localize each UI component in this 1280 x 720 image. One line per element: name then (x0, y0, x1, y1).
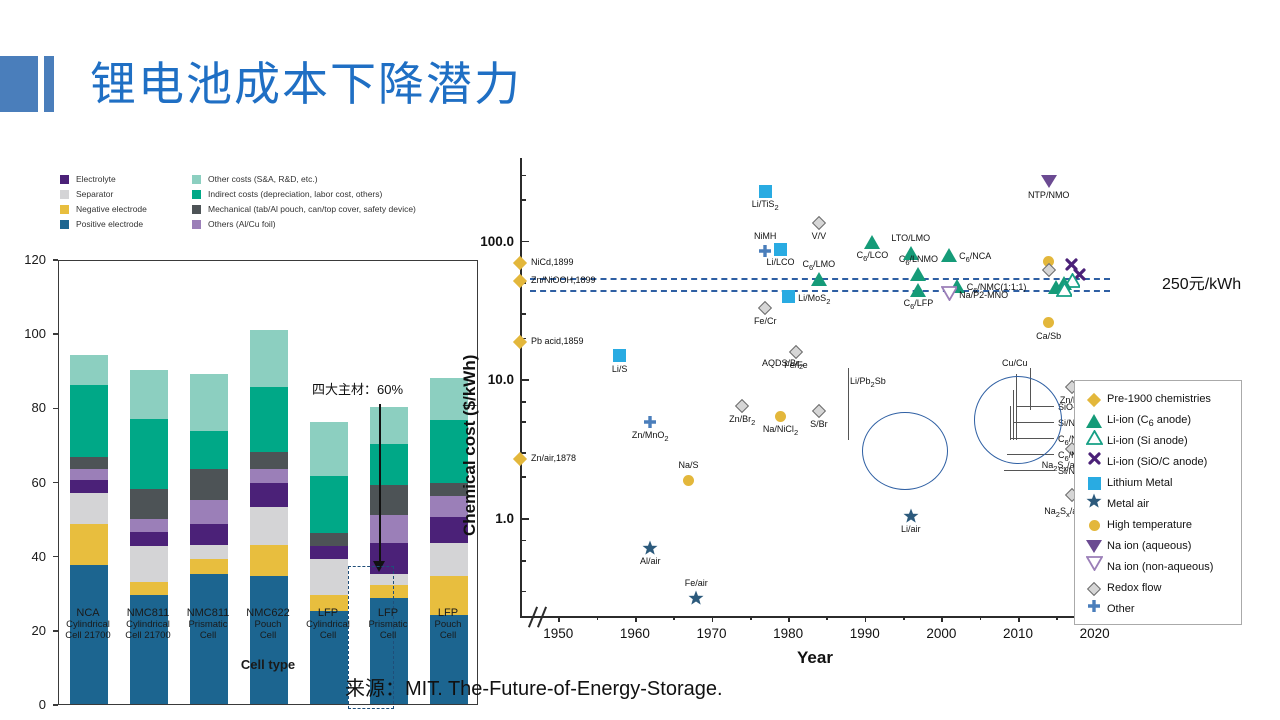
cluster-ellipse-nmc (974, 376, 1062, 464)
marker-diamond-open-redox-flow (734, 398, 750, 414)
source-citation: 来源：MIT. The-Future-of-Energy-Storage. (345, 672, 723, 701)
scatter-y-tick-minor (520, 199, 526, 201)
marker-triangle-down-open-na-nonaqueous (941, 286, 957, 302)
marker-star-metal-air (688, 590, 704, 606)
scatter-x-tick-minor (826, 616, 828, 620)
scatter-legend-marker (1085, 557, 1103, 578)
legend-swatch-electrolyte (60, 175, 69, 184)
scatter-legend-marker (1085, 431, 1103, 452)
marker-circle-high-temperature (1041, 315, 1057, 331)
bar-column (250, 330, 288, 705)
scatter-point-label-leader: Cu/Cu (1002, 358, 1028, 368)
scatter-point-label: Pb acid,1859 (531, 336, 584, 346)
bar-segment (130, 419, 168, 489)
scatter-legend-item: High temperature (1083, 515, 1235, 536)
marker-plus-other (1087, 599, 1101, 621)
legend-swatch-positive-electrode (60, 220, 69, 229)
scatter-x-tick-minor (980, 616, 982, 620)
marker-diamond-open-redox-flow (811, 403, 827, 419)
bar-annotation-label: 四大主材：60% (312, 379, 403, 398)
bar-y-tick-label: 60 (12, 475, 46, 490)
scatter-x-axis-title: Year (520, 648, 1110, 668)
slide-header: 锂电池成本下降潜力 (0, 56, 1280, 112)
scatter-legend-item: Na ion (non-aqueous) (1083, 557, 1235, 578)
bar-segment (130, 489, 168, 519)
scatter-legend-label: Li-ion (C6 anode) (1107, 414, 1191, 426)
bar-segment (250, 507, 288, 544)
bar-y-tick-label: 120 (12, 252, 46, 267)
bar-legend-column-right: Other costs (S&A, R&D, etc.) Indirect co… (192, 172, 416, 232)
scatter-chart-panel: Chemical cost ($/kWh) 1.010.0100.0 19501… (462, 150, 1122, 680)
marker-plus-other (757, 243, 773, 259)
bar-segment (250, 483, 288, 507)
scatter-legend-label: Lithium Metal (1107, 477, 1172, 489)
scatter-legend-label: Na ion (non-aqueous) (1107, 561, 1213, 573)
legend-label: Others (Al/Cu foil) (208, 219, 276, 229)
legend-label: Indirect costs (depreciation, labor cost… (208, 189, 382, 199)
scatter-legend-label: High temperature (1107, 519, 1192, 531)
cost-target-note: 250元/kWh (1162, 270, 1241, 294)
legend-item: Separator (60, 187, 147, 202)
scatter-y-tick-minor (520, 476, 526, 478)
marker-triangle-down-na-aqueous (1086, 540, 1102, 553)
scatter-y-tick-minor (520, 175, 526, 177)
scatter-point-label: Li/S (565, 364, 675, 374)
bar-y-tick-label: 40 (12, 549, 46, 564)
marker-square-lithium-metal (1088, 477, 1101, 490)
scatter-y-tick-label: 10.0 (466, 372, 514, 387)
scatter-legend-item: Metal air (1083, 494, 1235, 515)
scatter-point-label: Al/air (595, 556, 705, 566)
scatter-x-tick-label: 1970 (689, 626, 735, 641)
bar-y-tick-label: 100 (12, 326, 46, 341)
scatter-y-tick-minor (520, 591, 526, 593)
scatter-legend-label: Li-ion (SiO/C anode) (1107, 456, 1207, 468)
legend-label: Negative electrode (76, 204, 147, 214)
leader-line (848, 368, 849, 440)
bar-segment (130, 546, 168, 581)
page-title: 锂电池成本下降潜力 (90, 48, 522, 120)
scatter-x-tick-minor (750, 616, 752, 620)
marker-circle-high-temperature (1089, 520, 1100, 531)
scatter-legend-marker (1085, 578, 1103, 599)
bar-segment (190, 559, 228, 574)
marker-triangle-open-liion-si (1056, 282, 1072, 298)
marker-square-lithium-metal (773, 241, 789, 257)
scatter-x-tick-label: 1960 (612, 626, 658, 641)
bar-segment (190, 524, 228, 544)
legend-swatch-others-foil (192, 220, 201, 229)
legend-item: Other costs (S&A, R&D, etc.) (192, 172, 416, 187)
scatter-legend-marker (1085, 515, 1103, 536)
scatter-legend-marker (1085, 473, 1103, 494)
scatter-y-tick-minor (520, 401, 526, 403)
scatter-x-tick-label: 2010 (995, 626, 1041, 641)
bar-segment (130, 370, 168, 418)
legend-item: Indirect costs (depreciation, labor cost… (192, 187, 416, 202)
scatter-x-tick-label: 2000 (918, 626, 964, 641)
bar-segment (250, 545, 288, 577)
scatter-legend-label: Other (1107, 603, 1135, 615)
marker-diamond-pre1900 (512, 255, 528, 271)
scatter-chart-legend: Pre-1900 chemistriesLi-ion (C6 anode)Li-… (1074, 380, 1242, 625)
scatter-point-label: Fe/air (641, 578, 751, 588)
bar-y-tick-label: 0 (12, 697, 46, 712)
scatter-legend-marker (1085, 389, 1103, 410)
scatter-legend-label: Na ion (aqueous) (1107, 540, 1191, 552)
scatter-x-tick-minor (903, 616, 905, 620)
title-accent-bar (44, 56, 54, 112)
scatter-point-label: Zn/MnO2 (595, 430, 705, 443)
bar-segment (70, 524, 108, 565)
marker-diamond-open-redox-flow (1089, 584, 1099, 594)
marker-triangle-liion-c6 (910, 282, 926, 298)
scatter-point-label: Fe/Cr (710, 316, 820, 326)
scatter-point-label-leader: AQDS/Br2 (762, 358, 803, 371)
bar-segment (310, 559, 348, 594)
scatter-legend-item: Na ion (aqueous) (1083, 536, 1235, 557)
scatter-legend-marker (1085, 452, 1103, 473)
scatter-y-tick-minor (520, 313, 526, 315)
scatter-y-tick-major (520, 241, 529, 243)
scatter-point-label: LTO/LMO (856, 233, 966, 243)
scatter-x-tick (788, 616, 790, 622)
marker-x-liion-sioc (1088, 452, 1101, 473)
scatter-x-tick (712, 616, 714, 622)
marker-diamond-pre1900 (1089, 395, 1099, 405)
marker-triangle-liion-c6 (910, 266, 926, 282)
scatter-point-label: Ca/Sb (994, 331, 1104, 341)
marker-diamond-pre1900 (512, 273, 528, 289)
bar-segment (130, 582, 168, 595)
scatter-x-tick (635, 616, 637, 622)
scatter-point-label: Zn/NiOOH,1899 (531, 275, 596, 285)
scatter-x-tick-label: 1990 (842, 626, 888, 641)
scatter-x-tick (865, 616, 867, 622)
bar-legend-column-left: Electrolyte Separator Negative electrode… (60, 172, 147, 232)
scatter-legend-item: Other (1083, 599, 1235, 620)
scatter-legend-item: Li-ion (SiO/C anode) (1083, 452, 1235, 473)
bar-segment (310, 422, 348, 476)
scatter-y-tick-minor (520, 540, 526, 542)
legend-swatch-other-costs (192, 175, 201, 184)
bar-y-tick-label: 20 (12, 623, 46, 638)
bar-segment (190, 469, 228, 501)
scatter-point-label: Li/MoS2 (798, 293, 830, 306)
legend-label: Other costs (S&A, R&D, etc.) (208, 174, 318, 184)
bar-segment (70, 355, 108, 385)
legend-label: Electrolyte (76, 174, 116, 184)
marker-square-lithium-metal (780, 289, 796, 305)
bar-column (130, 370, 168, 704)
bar-segment (130, 519, 168, 532)
bar-column (190, 374, 228, 704)
marker-circle-high-temperature (681, 472, 697, 488)
scatter-point-label: Li/air (856, 524, 966, 534)
scatter-legend-marker (1085, 494, 1103, 515)
bar-annotation-arrow-line (379, 404, 381, 567)
scatter-point-label: Na/S (634, 460, 744, 470)
scatter-legend-label: Li-ion (Si anode) (1107, 435, 1188, 447)
legend-swatch-indirect-costs (192, 190, 201, 199)
scatter-point-label: Zn/air,1878 (531, 453, 576, 463)
marker-star-metal-air (903, 508, 919, 524)
legend-swatch-negative-electrode (60, 205, 69, 214)
scatter-point-label: C6/LMO (764, 259, 874, 272)
bar-segment (310, 533, 348, 546)
legend-item: Negative electrode (60, 202, 147, 217)
scatter-legend-label: Metal air (1107, 498, 1149, 510)
scatter-x-tick (941, 616, 943, 622)
scatter-point-label: NTP/NMO (994, 190, 1104, 200)
scatter-x-tick-minor (1056, 616, 1058, 620)
scatter-point-label: Li/TiS2 (710, 199, 820, 212)
legend-label: Positive electrode (76, 219, 143, 229)
bar-chart-panel: Electrolyte Separator Negative electrode… (0, 160, 500, 670)
scatter-x-tick-label: 2020 (1072, 626, 1118, 641)
marker-triangle-liion-c6 (1086, 414, 1102, 428)
scatter-x-tick-label: 1980 (765, 626, 811, 641)
scatter-x-tick-minor (597, 616, 599, 620)
scatter-legend-marker (1085, 410, 1103, 431)
scatter-x-tick (1018, 616, 1020, 622)
scatter-y-tick-label: 100.0 (466, 234, 514, 249)
legend-swatch-mechanical (192, 205, 201, 214)
marker-circle-high-temperature (773, 408, 789, 424)
scatter-y-tick-minor (520, 560, 526, 562)
legend-item: Positive electrode (60, 217, 147, 232)
bar-segment (70, 480, 108, 493)
bar-segment (310, 546, 348, 559)
bar-segment (250, 330, 288, 387)
bar-segment (190, 374, 228, 431)
bar-column (70, 355, 108, 704)
marker-diamond-open-redox-flow (811, 215, 827, 231)
cluster-ellipse-lfp (862, 412, 948, 490)
marker-triangle-liion-c6 (811, 271, 827, 287)
bar-segment (70, 469, 108, 480)
leader-line (1004, 470, 1054, 471)
scatter-legend-item: Redox flow (1083, 578, 1235, 599)
marker-plus-other (642, 414, 658, 430)
bar-chart-legend: Electrolyte Separator Negative electrode… (60, 172, 480, 234)
scatter-x-axis-line (520, 616, 1110, 618)
legend-label: Separator (76, 189, 113, 199)
marker-star-metal-air (642, 540, 658, 556)
scatter-x-tick-minor (673, 616, 675, 620)
bar-chart-x-axis-label: Cell type (58, 657, 478, 672)
legend-item: Others (Al/Cu foil) (192, 217, 416, 232)
bar-segment (370, 407, 408, 444)
scatter-point-label-leader: Li/Pb2Sb (850, 376, 886, 389)
scatter-x-tick-label: 1950 (535, 626, 581, 641)
scatter-y-tick-major (520, 518, 529, 520)
scatter-legend-marker (1085, 536, 1103, 557)
bar-segment (130, 532, 168, 547)
bar-y-tick-label: 80 (12, 400, 46, 415)
marker-diamond-open-redox-flow (1041, 262, 1057, 278)
legend-item: Mechanical (tab/Al pouch, can/top cover,… (192, 202, 416, 217)
scatter-point-label: Na/NiCl2 (726, 424, 836, 437)
marker-triangle-down-open-na-nonaqueous (1086, 556, 1103, 579)
scatter-y-tick-major (520, 379, 529, 381)
bar-segment (250, 387, 288, 452)
scatter-legend-item: Li-ion (Si anode) (1083, 431, 1235, 452)
marker-triangle-down-na-aqueous (1041, 174, 1057, 190)
bar-segment (190, 500, 228, 524)
marker-star-metal-air (1086, 493, 1102, 517)
scatter-x-tick (558, 616, 560, 622)
bar-segment (370, 485, 408, 515)
marker-diamond-pre1900 (512, 451, 528, 467)
bar-segment (70, 457, 108, 468)
bar-segment (190, 545, 228, 560)
bar-segment (190, 431, 228, 468)
bar-segment (250, 452, 288, 469)
bar-segment (250, 469, 288, 484)
scatter-legend-label: Pre-1900 chemistries (1107, 393, 1211, 405)
bar-segment (70, 493, 108, 525)
scatter-point-label: NiCd,1899 (531, 257, 574, 267)
title-accent-block (0, 56, 38, 112)
marker-triangle-open-liion-si (1086, 430, 1103, 453)
scatter-legend-item: Li-ion (C6 anode) (1083, 410, 1235, 431)
scatter-legend-item: Lithium Metal (1083, 473, 1235, 494)
bar-segment (310, 476, 348, 533)
bar-segment (370, 515, 408, 543)
marker-square-lithium-metal (612, 348, 628, 364)
scatter-y-tick-minor (520, 421, 526, 423)
bar-segment (70, 385, 108, 457)
marker-diamond-pre1900 (512, 334, 528, 350)
bar-segment (370, 444, 408, 485)
marker-square-lithium-metal (757, 183, 773, 199)
scatter-y-tick-label: 1.0 (466, 511, 514, 526)
scatter-legend-marker (1085, 599, 1103, 620)
marker-diamond-open-redox-flow (757, 300, 773, 316)
legend-label: Mechanical (tab/Al pouch, can/top cover,… (208, 204, 416, 214)
legend-swatch-separator (60, 190, 69, 199)
scatter-point-label: C6/LNMO (863, 254, 973, 267)
scatter-legend-label: Redox flow (1107, 582, 1161, 594)
scatter-point-label: Na/P2-MNO (959, 290, 1008, 300)
legend-item: Electrolyte (60, 172, 147, 187)
scatter-legend-item: Pre-1900 chemistries (1083, 389, 1235, 410)
scatter-y-axis-line (520, 158, 522, 618)
